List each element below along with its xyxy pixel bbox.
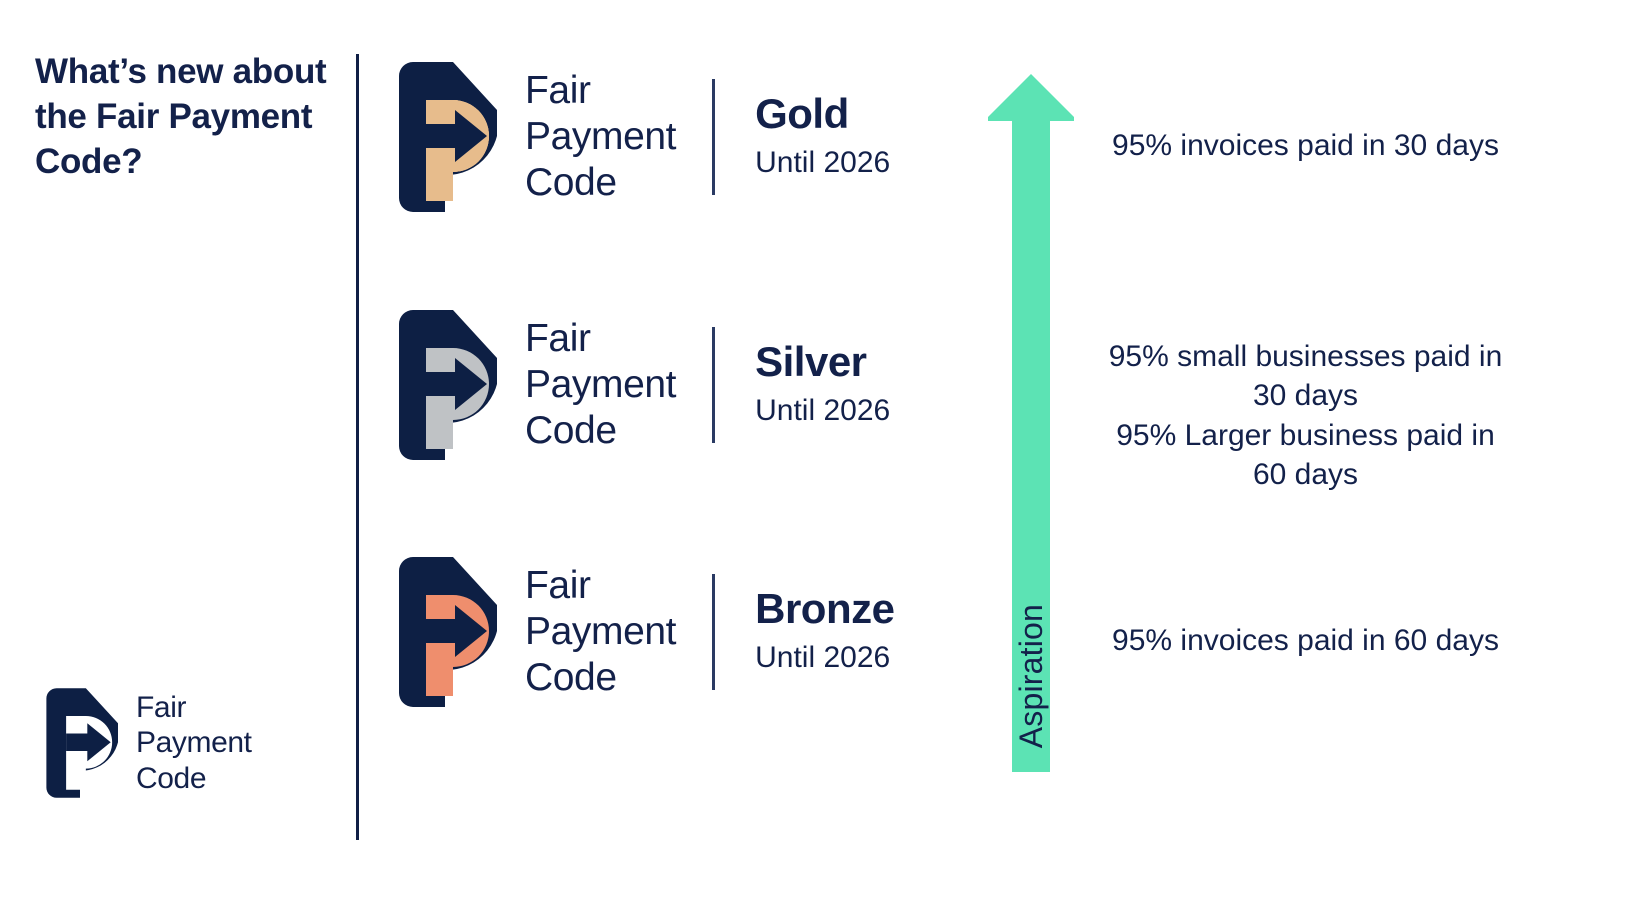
fair-payment-code-logo-bronze: Fair Payment Code xyxy=(393,557,676,707)
tier-divider xyxy=(712,574,715,690)
fpc-logo-mark-icon xyxy=(393,62,497,212)
fair-payment-code-logo-gold: Fair Payment Code xyxy=(393,62,676,212)
aspiration-arrow: Aspiration xyxy=(988,74,1074,772)
fpc-logo-mark-icon xyxy=(393,310,497,460)
tier-row: Fair Payment Code Silver Until 2026 xyxy=(393,310,890,460)
fpc-wordmark: Fair Payment Code xyxy=(136,690,252,796)
tier-until: Until 2026 xyxy=(755,391,890,430)
tier-name: Bronze xyxy=(755,587,894,631)
footer-fair-payment-code-logo: Fair Payment Code xyxy=(42,688,252,798)
fpc-logo-mark-icon xyxy=(42,688,118,798)
fair-payment-code-logo-silver: Fair Payment Code xyxy=(393,310,676,460)
tier-name: Silver xyxy=(755,340,890,384)
tier-name: Gold xyxy=(755,92,890,136)
tier-description: 95% invoices paid in 30 days xyxy=(1098,126,1513,165)
fpc-wordmark: Fair Payment Code xyxy=(525,68,676,206)
up-arrow-icon xyxy=(988,74,1074,772)
fpc-logo-mark-icon xyxy=(393,557,497,707)
tier-divider xyxy=(712,79,715,195)
tier-row: Fair Payment Code Gold Until 2026 xyxy=(393,62,890,212)
tier-divider xyxy=(712,327,715,443)
vertical-divider xyxy=(356,54,359,840)
page-title: What’s new about the Fair Payment Code? xyxy=(35,50,335,184)
tier-description: 95% small businesses paid in 30 days 95%… xyxy=(1098,337,1513,494)
tier-row: Fair Payment Code Bronze Until 2026 xyxy=(393,557,894,707)
tier-until: Until 2026 xyxy=(755,143,890,182)
fpc-wordmark: Fair Payment Code xyxy=(525,563,676,701)
tier-description: 95% invoices paid in 60 days xyxy=(1098,621,1513,660)
fpc-wordmark: Fair Payment Code xyxy=(525,316,676,454)
tier-until: Until 2026 xyxy=(755,638,894,677)
